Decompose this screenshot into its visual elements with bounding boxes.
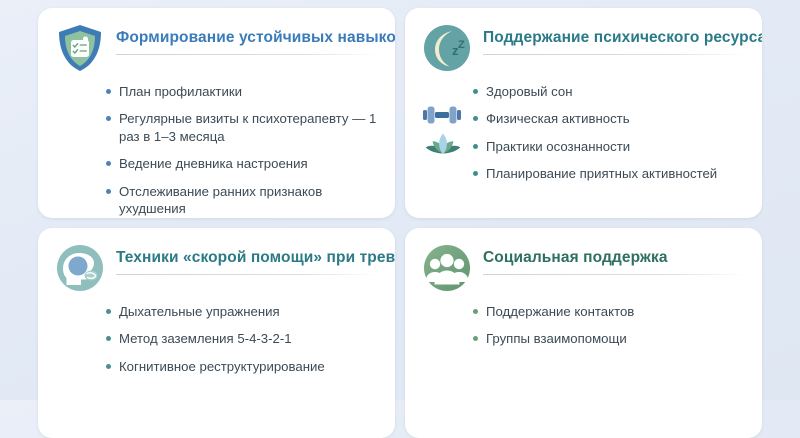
card-title: Формирование устойчивых навыков <box>116 29 379 47</box>
bullet-icon <box>473 309 478 314</box>
card-title: Поддержание психического ресурса <box>483 29 746 47</box>
lotus-icon <box>421 130 465 156</box>
card-item-list: Поддержание контактов Группы взаимопомощ… <box>421 298 746 353</box>
list-item: Метод заземления 5-4-3-2-1 <box>54 325 379 352</box>
list-item: Отслеживание ранних признаков ухудшения <box>54 178 379 218</box>
bullet-icon <box>106 161 111 166</box>
card-item-list: Дыхательные упражнения Метод заземления … <box>54 298 379 380</box>
list-item: План профилактики <box>54 78 379 105</box>
bullet-icon <box>473 89 478 94</box>
list-item: Физическая активность <box>421 105 746 132</box>
list-item: Поддержание контактов <box>421 298 746 325</box>
list-item-label: Дыхательные упражнения <box>119 303 379 320</box>
list-item-label: Когнитивное реструктурирование <box>119 358 379 375</box>
bullet-icon <box>106 116 111 121</box>
bullet-icon <box>106 336 111 341</box>
title-divider <box>483 54 746 55</box>
list-item-label: Регулярные визиты к психотерапевту — 1 р… <box>119 110 379 145</box>
list-item-label: Группы взаимопомощи <box>486 330 746 347</box>
bullet-icon <box>473 336 478 341</box>
card-header: z Z Поддержание психического ресурса <box>421 22 746 74</box>
bullet-icon <box>106 189 111 194</box>
card-social-support: Социальная поддержка Поддержание контакт… <box>405 228 762 438</box>
card-item-list: План профилактики Регулярные визиты к пс… <box>54 78 379 218</box>
list-item-label: Отслеживание ранних признаков ухудшения <box>119 183 379 218</box>
card-mental-resource: z Z Поддержание психического ресурса Здо… <box>405 8 762 218</box>
dumbbell-icon <box>421 102 465 128</box>
title-divider <box>116 274 379 275</box>
card-header: Техники «скорой помощи» при тревоге <box>54 242 379 294</box>
title-divider <box>116 54 379 55</box>
list-item-label: Метод заземления 5-4-3-2-1 <box>119 330 379 347</box>
card-header: Социальная поддержка <box>421 242 746 294</box>
card-title: Социальная поддержка <box>483 249 746 267</box>
list-item-label: План профилактики <box>119 83 379 100</box>
bullet-icon <box>106 89 111 94</box>
title-wrap: Техники «скорой помощи» при тревоге <box>116 242 379 275</box>
list-item: Здоровый сон <box>421 78 746 105</box>
list-item: Планирование приятных активностей <box>421 160 746 187</box>
title-wrap: Формирование устойчивых навыков <box>116 22 379 55</box>
title-wrap: Поддержание психического ресурса <box>483 22 746 55</box>
bullet-icon <box>473 144 478 149</box>
list-item: Дыхательные упражнения <box>54 298 379 325</box>
list-item: Практики осознанности <box>421 133 746 160</box>
bullet-icon <box>106 309 111 314</box>
title-divider <box>483 274 746 275</box>
svg-text:Z: Z <box>458 39 465 51</box>
list-item-label: Практики осознанности <box>486 138 746 155</box>
people-group-icon <box>421 242 473 294</box>
list-item: Регулярные визиты к психотерапевту — 1 р… <box>54 105 379 150</box>
cards-board: Формирование устойчивых навыков План про… <box>0 0 800 400</box>
card-skills: Формирование устойчивых навыков План про… <box>38 8 395 218</box>
bullet-icon <box>106 364 111 369</box>
bullet-icon <box>473 171 478 176</box>
card-emergency-techniques: Техники «скорой помощи» при тревоге Дыха… <box>38 228 395 438</box>
list-item: Когнитивное реструктурирование <box>54 353 379 380</box>
list-item: Группы взаимопомощи <box>421 325 746 352</box>
list-item-label: Ведение дневника настроения <box>119 155 379 172</box>
bullet-icon <box>473 116 478 121</box>
card-title: Техники «скорой помощи» при тревоге <box>116 249 379 267</box>
moon-sleep-icon: z Z <box>421 22 473 74</box>
card-header: Формирование устойчивых навыков <box>54 22 379 74</box>
head-breathing-icon <box>54 242 106 294</box>
card-item-list: Здоровый сон Физическая активность <box>421 78 746 188</box>
list-item: Ведение дневника настроения <box>54 150 379 177</box>
list-item-label: Физическая активность <box>486 110 746 127</box>
shield-checklist-icon <box>54 22 106 74</box>
list-item-label: Здоровый сон <box>486 83 746 100</box>
title-wrap: Социальная поддержка <box>483 242 746 275</box>
list-item-label: Поддержание контактов <box>486 303 746 320</box>
list-item-label: Планирование приятных активностей <box>486 165 746 182</box>
